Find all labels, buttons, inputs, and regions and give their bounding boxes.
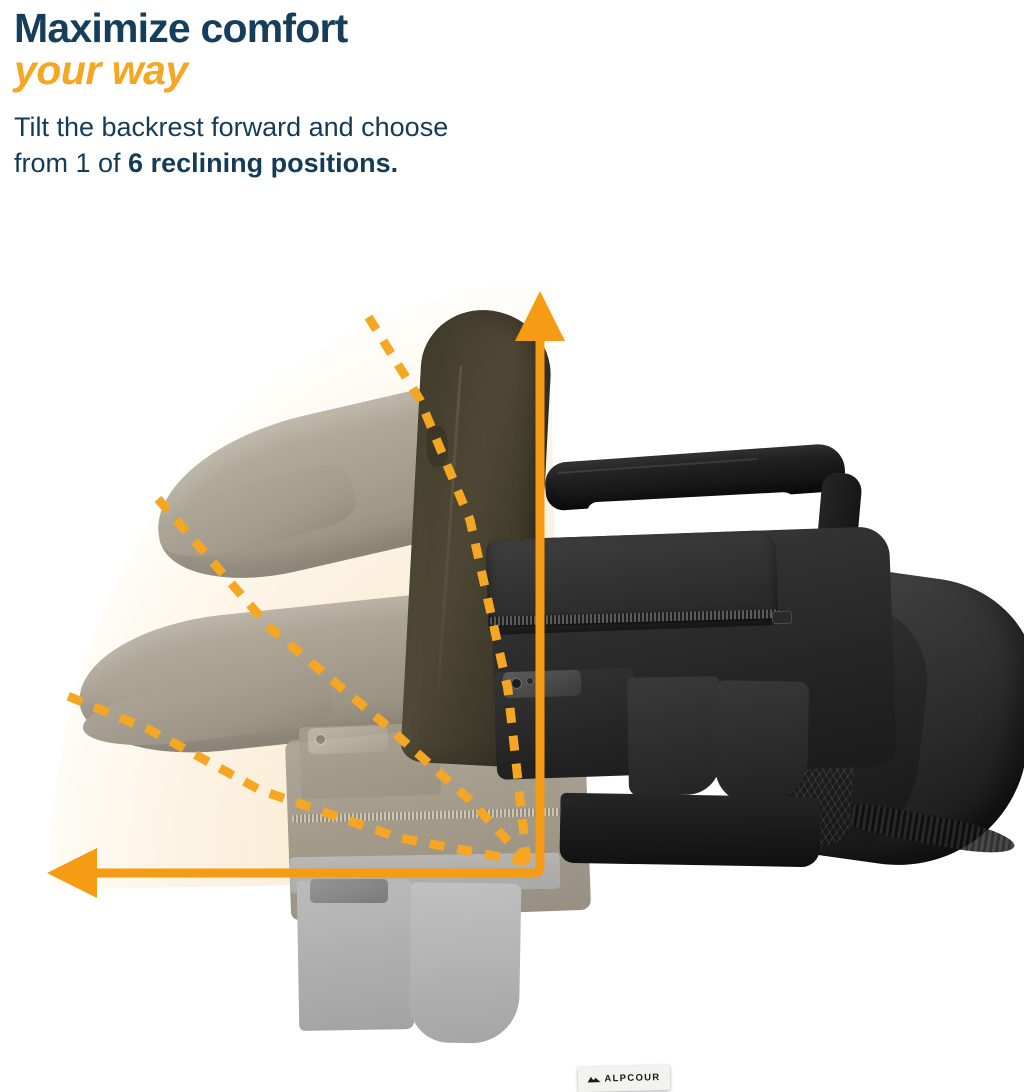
subheadline-line-1: Tilt the backrest forward and choose — [14, 112, 448, 142]
page-title: Maximize comfort your way — [14, 8, 714, 90]
ghost-cup-holder-pocket-2 — [409, 882, 522, 1044]
subheadline-line-2-prefix: from 1 of — [14, 148, 128, 178]
headline-line-2: your way — [14, 50, 714, 90]
ghost-phone-camera-icon — [316, 735, 325, 744]
header-block: Maximize comfort your way Tilt the backr… — [14, 8, 714, 182]
cup-holder-pocket-2 — [715, 680, 809, 804]
brand-logo-tag: ALPCOUR — [578, 1065, 671, 1092]
recline-diagram: ALPCOUR — [0, 215, 1024, 1037]
cup-holder-pocket-1 — [627, 676, 721, 796]
headline-line-1: Maximize comfort — [14, 8, 714, 48]
zipper-pull — [772, 611, 792, 625]
brand-logo-text: ALPCOUR — [604, 1072, 660, 1084]
phone-camera-icon — [512, 679, 521, 688]
subheadline: Tilt the backrest forward and choose fro… — [14, 110, 714, 182]
subheadline-emphasis: 6 reclining positions. — [128, 148, 398, 178]
ghost-pocket-phone — [310, 879, 388, 903]
mountain-peak-icon — [587, 1075, 601, 1084]
lower-frame — [559, 793, 820, 868]
phone-camera-icon-secondary — [527, 678, 533, 684]
